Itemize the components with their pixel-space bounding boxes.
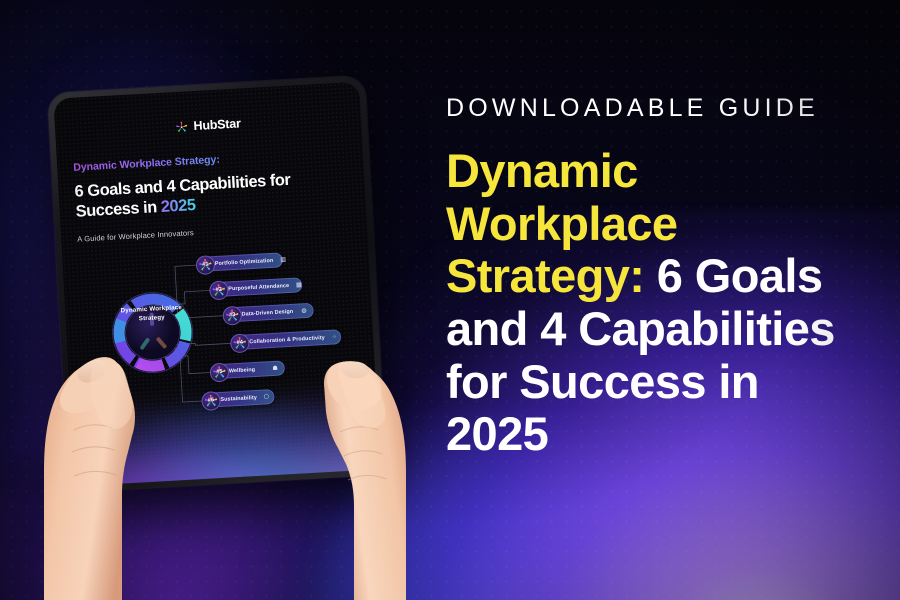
hubstar-star-icon [175,120,189,134]
eyebrow-label: DOWNLOADABLE GUIDE [446,96,866,121]
goal-number-4: #4 [237,340,244,346]
headline-yellow-part: Dynamic Workplace Strategy: [446,144,677,302]
goal-number-1: #1 [202,261,209,267]
promo-banner: HubStar Dynamic Workplace Strategy: 6 Go… [0,0,900,600]
people-icon: ⁘ [325,334,337,341]
tablet-frame: HubStar Dynamic Workplace Strategy: 6 Go… [47,75,387,492]
goal-label-5: Wellbeing [229,367,256,374]
goal-label-3: Data-Driven Design [242,308,294,317]
strategy-diagram: Dynamic Workplace Strategy #1 Portfolio [78,242,361,427]
promo-copy: DOWNLOADABLE GUIDE Dynamic Workplace Str… [446,96,866,461]
goal-number-2: #2 [216,287,223,293]
hubstar-wordmark: HubStar [193,116,241,133]
goal-label-2: Purposeful Attendance [228,283,289,292]
goal-badge-1: #1 [195,255,215,275]
goal-badge-6: #6 [201,391,221,411]
goal-badge-3: #3 [222,305,242,325]
goal-number-6: #6 [208,397,215,403]
goal-number-3: #3 [229,312,236,318]
compass-icon: ◍ [294,308,307,315]
cover-subtitle: A Guide for Workplace Innovators [77,219,351,243]
goal-badge-4: #4 [230,333,250,353]
goal-badge-2: #2 [209,280,229,300]
goal-badge-5: #5 [209,362,229,382]
goal-number-5: #5 [216,369,223,375]
leaf-shield-icon: ⬠ [257,394,270,401]
building-icon: ▥ [273,257,286,264]
hubstar-logo: HubStar [71,111,345,140]
tablet-device: HubStar Dynamic Workplace Strategy: 6 Go… [47,75,387,492]
bar-chart-icon: ▦ [289,282,302,289]
goal-label-4: Collaboration & Productivity [249,335,325,345]
person-icon: ☗ [265,365,278,372]
goal-label-6: Sustainability [220,394,257,402]
cover-title: 6 Goals and 4 Capabilities for Success i… [74,167,350,222]
tablet-screen: HubStar Dynamic Workplace Strategy: 6 Go… [53,82,380,486]
page-title: Dynamic Workplace Strategy: 6 Goals and … [446,145,866,461]
goal-label-1: Portfolio Optimization [215,257,274,266]
cover-title-year: 2025 [160,196,196,216]
